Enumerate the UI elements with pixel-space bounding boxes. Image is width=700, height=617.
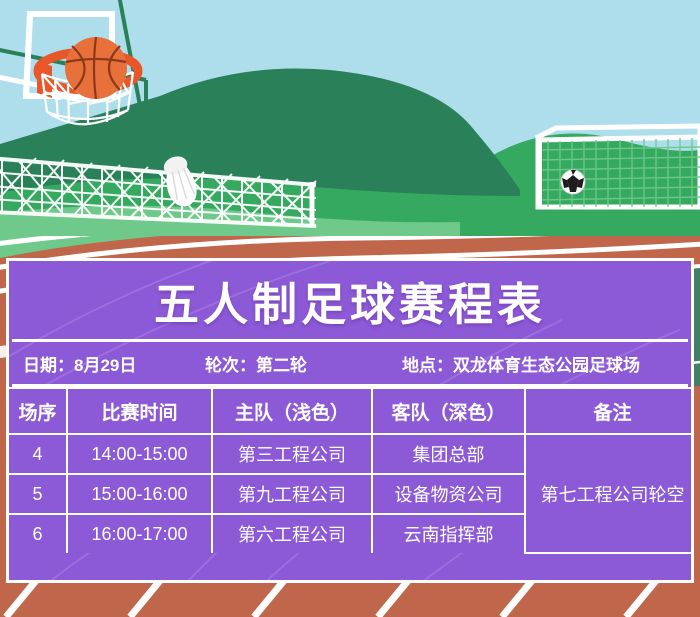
cell-home: 第六工程公司 — [212, 514, 372, 553]
col-header-away: 客队（深色） — [372, 388, 525, 434]
cell-home: 第九工程公司 — [212, 474, 372, 514]
info-date: 日期：8月29日 — [23, 351, 136, 376]
poster-root: 五人制足球赛程表 日期：8月29日 轮次：第二轮 地点：双龙体育生态公园足球场 … — [0, 0, 700, 617]
col-header-time: 比赛时间 — [67, 388, 212, 434]
table-header-row: 场序 比赛时间 主队（浅色） 客队（深色） 备注 — [9, 388, 694, 434]
col-header-note: 备注 — [525, 388, 694, 434]
col-header-seq: 场序 — [9, 388, 67, 434]
cell-away: 云南指挥部 — [372, 514, 525, 553]
title-area: 五人制足球赛程表 — [9, 261, 691, 339]
cell-away: 设备物资公司 — [372, 474, 525, 514]
info-bar: 日期：8月29日 轮次：第二轮 地点：双龙体育生态公园足球场 — [9, 342, 691, 384]
cell-time: 15:00-16:00 — [67, 474, 212, 514]
cell-time: 16:00-17:00 — [67, 514, 212, 553]
goal-post-left — [536, 138, 542, 208]
soccer-ball — [561, 170, 585, 194]
page-title: 五人制足球赛程表 — [154, 268, 546, 333]
schedule-table: 场序 比赛时间 主队（浅色） 客队（深色） 备注 4 14:00-15:00 第… — [9, 387, 694, 554]
cell-note: 第七工程公司轮空 — [525, 434, 694, 553]
cell-seq: 6 — [9, 514, 67, 553]
table-row: 4 14:00-15:00 第三工程公司 集团总部 第七工程公司轮空 — [9, 434, 694, 474]
col-header-home: 主队（浅色） — [212, 388, 372, 434]
cell-seq: 4 — [9, 434, 67, 474]
schedule-card: 五人制足球赛程表 日期：8月29日 轮次：第二轮 地点：双龙体育生态公园足球场 … — [6, 258, 694, 583]
cell-away: 集团总部 — [372, 434, 525, 474]
info-round: 轮次：第二轮 — [205, 351, 307, 376]
sports-illustration — [0, 0, 700, 262]
cell-home: 第三工程公司 — [212, 434, 372, 474]
illustration-svg — [0, 0, 700, 262]
cell-time: 14:00-15:00 — [67, 434, 212, 474]
info-venue: 地点：双龙体育生态公园足球场 — [402, 351, 640, 376]
cell-seq: 5 — [9, 474, 67, 514]
